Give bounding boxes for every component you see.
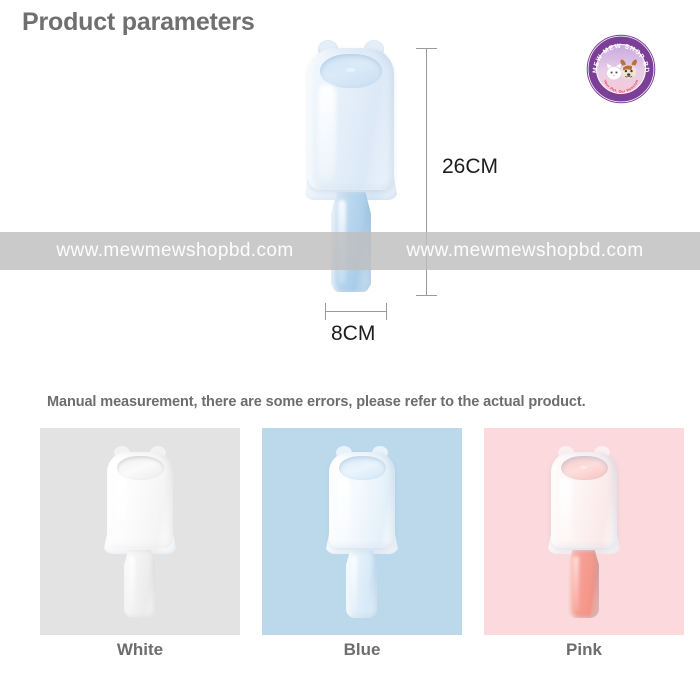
color-swatch-blue[interactable]: [262, 428, 462, 635]
product-handle: [331, 192, 371, 292]
product-diagram: 26CM 8CM: [0, 0, 700, 370]
product-illustration-white: [102, 446, 178, 621]
height-dimension-label: 26CM: [442, 155, 498, 179]
measurement-disclaimer: Manual measurement, there are some error…: [47, 394, 586, 410]
product-cap-highlight: [136, 466, 143, 469]
product-body-highlight: [337, 478, 350, 542]
product-handle-highlight: [351, 556, 357, 612]
color-swatch-pink[interactable]: [484, 428, 684, 635]
color-label-pink: Pink: [484, 640, 684, 660]
height-dimension-line: [426, 48, 427, 296]
product-handle-highlight: [573, 556, 579, 612]
product-handle-highlight: [129, 556, 135, 612]
product-cap-highlight: [346, 68, 355, 72]
color-variant-row: White Blue Pink: [40, 428, 660, 678]
height-dimension-bottom-cap: [416, 295, 437, 296]
height-dimension-top-cap: [416, 48, 437, 49]
product-illustration-blue: [324, 446, 400, 621]
product-body-highlight: [115, 478, 128, 542]
product-illustration-pink: [546, 446, 622, 621]
color-label-white: White: [40, 640, 240, 660]
width-dimension-line: [325, 311, 387, 312]
product-handle-highlight: [338, 200, 346, 284]
product-body-highlight: [559, 478, 572, 542]
product-cap-highlight: [580, 466, 587, 469]
product-body-highlight: [318, 84, 336, 180]
width-dimension-left-cap: [325, 303, 326, 320]
product-cap-highlight: [358, 466, 365, 469]
width-dimension-right-cap: [386, 303, 387, 320]
color-label-blue: Blue: [262, 640, 462, 660]
width-dimension-label: 8CM: [331, 322, 375, 346]
product-illustration-main: [300, 40, 402, 302]
color-swatch-white[interactable]: [40, 428, 240, 635]
